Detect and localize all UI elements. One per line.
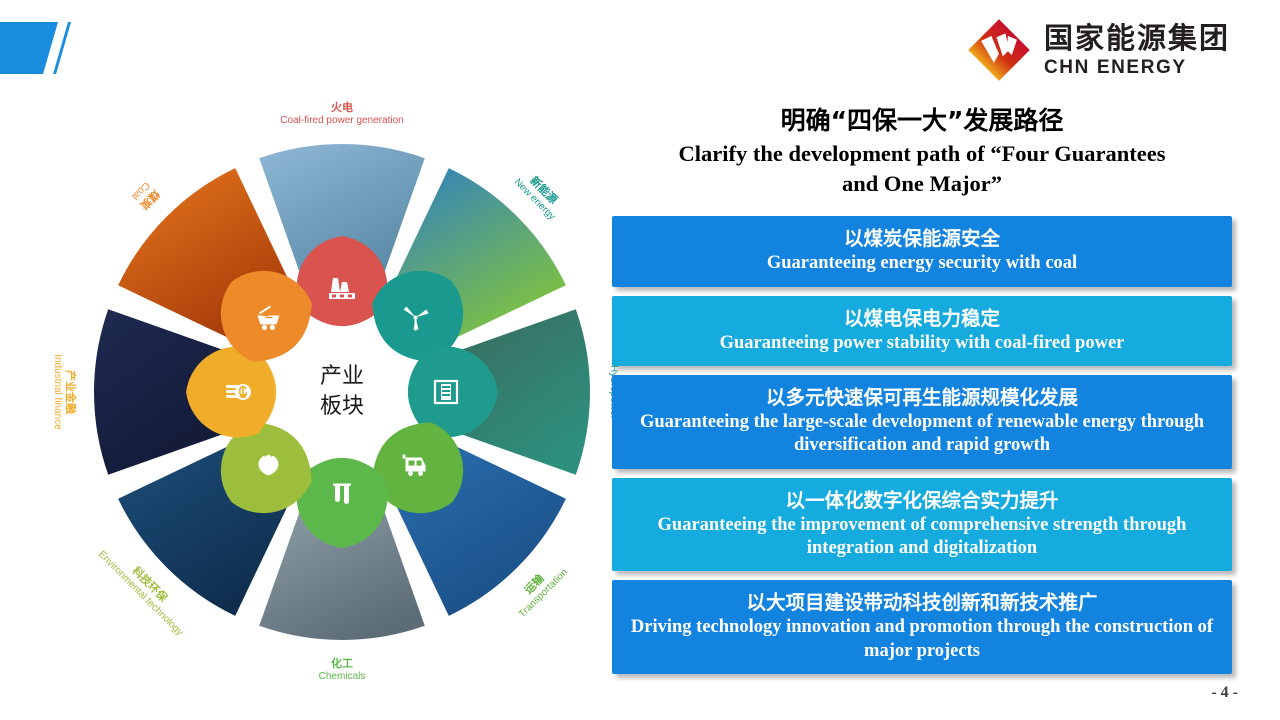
wheel-segment-label: 火电Coal-fired power generation bbox=[280, 101, 403, 127]
guarantee-box-chinese: 以大项目建设带动科技创新和新技术推广 bbox=[626, 589, 1218, 616]
content-column: 明确“四保一大”发展路径 Clarify the development pat… bbox=[612, 104, 1232, 674]
guarantee-box[interactable]: 以多元快速保可再生能源规模化发展Guaranteeing the large-s… bbox=[612, 375, 1232, 469]
guarantee-box-english: Guaranteeing the improvement of comprehe… bbox=[626, 514, 1218, 560]
industry-sectors-wheel: 产业 板块 火电Coal-fired power generation新能源Ne… bbox=[92, 112, 592, 672]
guarantee-box-english: Guaranteeing the large-scale development… bbox=[626, 411, 1218, 457]
guarantee-box[interactable]: 以大项目建设带动科技创新和新技术推广Driving technology inn… bbox=[612, 580, 1232, 674]
guarantee-box-english: Guaranteeing power stability with coal-f… bbox=[626, 332, 1218, 355]
money-icon bbox=[226, 384, 251, 400]
wheel-center-line2: 板块 bbox=[320, 394, 364, 419]
corner-decoration bbox=[0, 22, 95, 74]
guarantee-box-chinese: 以煤炭保能源安全 bbox=[626, 225, 1218, 252]
wheel-segment-label: 化工Chemicals bbox=[319, 657, 366, 683]
wheel-center-line1: 产业 bbox=[320, 364, 364, 389]
wheel-segment-label-chinese: 化工 bbox=[319, 657, 366, 671]
guarantee-box-list: 以煤炭保能源安全Guaranteeing energy security wit… bbox=[612, 216, 1232, 673]
guarantee-box-english: Driving technology innovation and promot… bbox=[626, 616, 1218, 662]
guarantee-box[interactable]: 以煤炭保能源安全Guaranteeing energy security wit… bbox=[612, 216, 1232, 286]
chn-energy-diamond-icon bbox=[967, 18, 1031, 82]
title-english-line1: Clarify the development path of “Four Gu… bbox=[612, 140, 1232, 168]
page-number: - 4 - bbox=[1211, 684, 1238, 702]
guarantee-box[interactable]: 以一体化数字化保综合实力提升Guaranteeing the improveme… bbox=[612, 478, 1232, 572]
company-logo: 国家能源集团 CHN ENERGY bbox=[967, 18, 1230, 82]
wheel-center-label: 产业 板块 bbox=[320, 362, 364, 421]
wheel-segment-label-english: Coal-fired power generation bbox=[280, 115, 403, 128]
corner-parallelogram bbox=[0, 22, 58, 74]
guarantee-box-chinese: 以煤电保电力稳定 bbox=[626, 305, 1218, 332]
guarantee-box-english: Guaranteeing energy security with coal bbox=[626, 252, 1218, 275]
wheel-segment-label-english: Industrial finance bbox=[51, 354, 64, 430]
corner-slash-line bbox=[53, 22, 71, 74]
wheel-segment-label-english: Chemicals bbox=[319, 671, 366, 684]
logo-chinese-name: 国家能源集团 bbox=[1044, 24, 1230, 53]
wheel-segment-label: 产业金融Industrial finance bbox=[51, 354, 77, 430]
guarantee-box[interactable]: 以煤电保电力稳定Guaranteeing power stability wit… bbox=[612, 296, 1232, 366]
title-chinese: 明确“四保一大”发展路径 bbox=[612, 104, 1232, 138]
guarantee-box-chinese: 以多元快速保可再生能源规模化发展 bbox=[626, 384, 1218, 411]
logo-english-name: CHN ENERGY bbox=[1044, 58, 1230, 77]
guarantee-box-chinese: 以一体化数字化保综合实力提升 bbox=[626, 487, 1218, 514]
wheel-segment-label-chinese: 火电 bbox=[280, 101, 403, 115]
title-english-line2: and One Major” bbox=[612, 170, 1232, 198]
slide-title: 明确“四保一大”发展路径 Clarify the development pat… bbox=[612, 104, 1232, 198]
wheel-segment-label-chinese: 产业金融 bbox=[63, 354, 77, 430]
